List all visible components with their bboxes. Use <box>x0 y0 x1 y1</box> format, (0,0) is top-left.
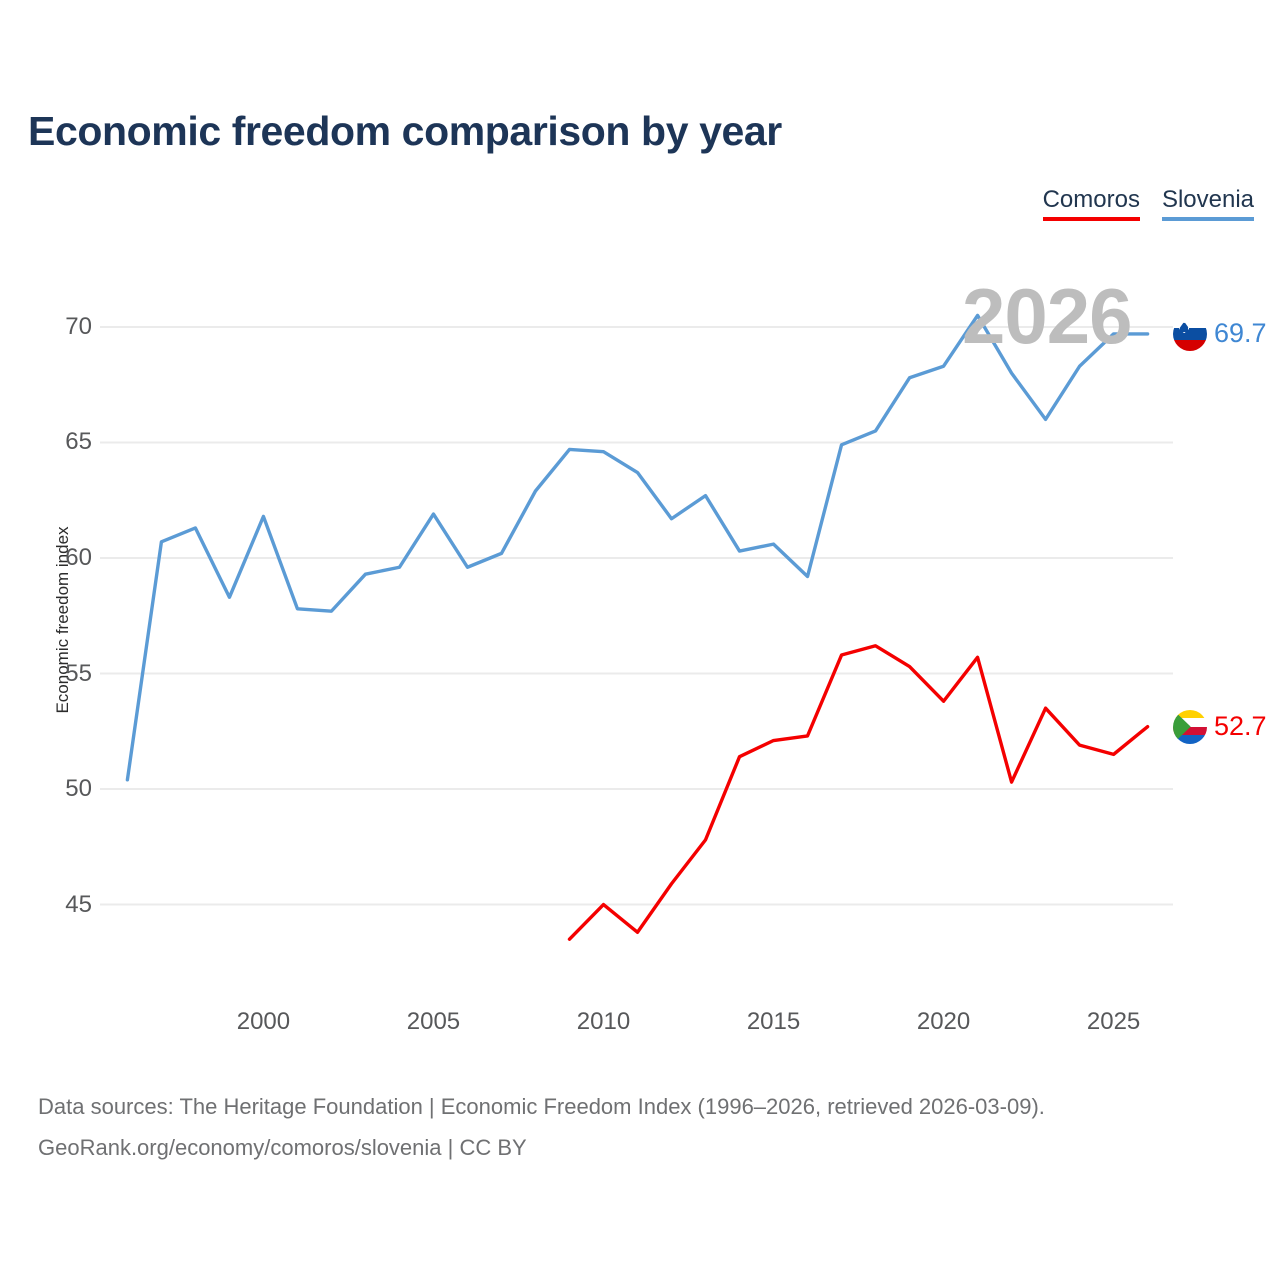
y-tick-label: 55 <box>32 660 92 688</box>
comoros-flag-icon <box>1173 710 1207 744</box>
x-tick-label: 2025 <box>1054 1008 1174 1036</box>
y-tick-label: 45 <box>32 891 92 919</box>
footer-attribution: Data sources: The Heritage Foundation | … <box>38 1086 1045 1168</box>
x-tick-label: 2015 <box>714 1008 834 1036</box>
y-tick-label: 60 <box>32 544 92 572</box>
year-watermark: 2026 <box>962 271 1132 362</box>
y-tick-label: 70 <box>32 313 92 341</box>
series-line-comoros <box>569 646 1147 939</box>
slovenia-endpoint: 69.7 <box>1173 317 1267 351</box>
footer-line-1: Data sources: The Heritage Foundation | … <box>38 1086 1045 1127</box>
x-tick-label: 2010 <box>543 1008 663 1036</box>
comoros-endpoint-value: 52.7 <box>1214 711 1267 742</box>
footer-line-2: GeoRank.org/economy/comoros/slovenia | C… <box>38 1127 1045 1168</box>
y-tick-label: 50 <box>32 775 92 803</box>
x-tick-label: 2000 <box>203 1008 323 1036</box>
slovenia-endpoint-value: 69.7 <box>1214 318 1267 349</box>
chart-page: Economic freedom comparison by year Como… <box>0 0 1280 1280</box>
x-tick-label: 2005 <box>373 1008 493 1036</box>
y-axis-label: Economic freedom index <box>53 505 73 735</box>
x-tick-label: 2020 <box>884 1008 1004 1036</box>
series-lines <box>127 315 1147 939</box>
series-line-slovenia <box>127 315 1147 779</box>
comoros-endpoint: 52.7 <box>1173 710 1267 744</box>
y-tick-label: 65 <box>32 428 92 456</box>
slovenia-flag-icon <box>1173 317 1207 351</box>
gridlines <box>100 327 1173 905</box>
